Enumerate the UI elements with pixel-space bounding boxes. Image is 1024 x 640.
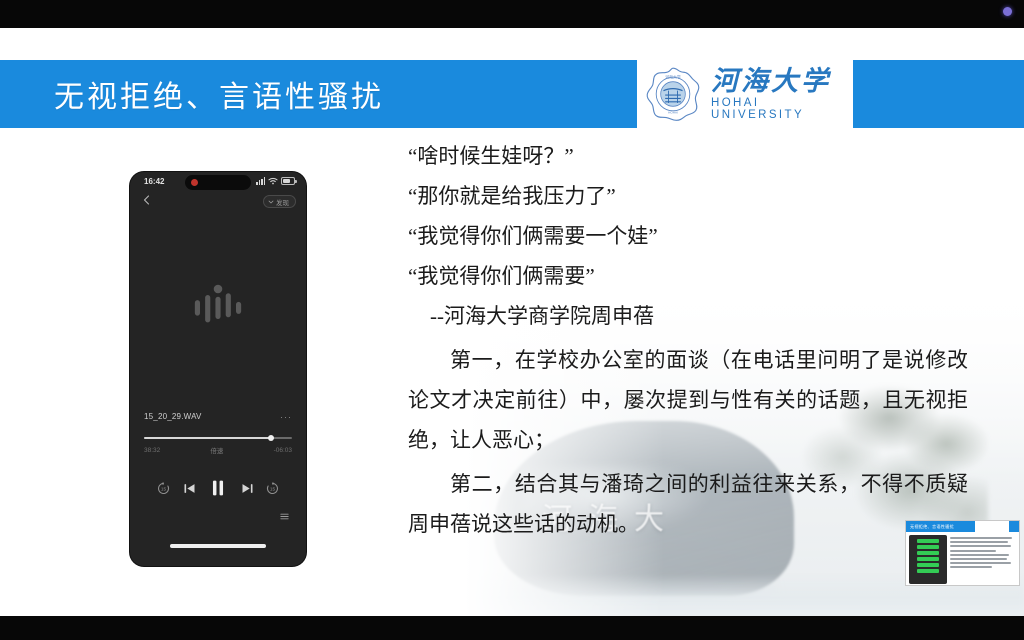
- forward-15-button[interactable]: 15: [265, 481, 280, 496]
- body-paragraph: 第一，在学校办公室的面谈（在电话里问明了是说修改论文才决定前往）中，屡次提到与性…: [408, 340, 968, 460]
- pip-bar: [917, 563, 939, 567]
- previous-track-button[interactable]: [182, 481, 197, 496]
- letterbox-top: [0, 0, 1024, 28]
- file-row: 15_20_29.WAV ···: [144, 412, 292, 421]
- pip-bar: [917, 545, 939, 549]
- chevron-down-icon: [268, 199, 274, 205]
- pip-bar: [917, 557, 939, 561]
- screen-recording-frame: 河海大 无视拒绝、言语性骚扰 河海大学 HOHAI: [0, 0, 1024, 640]
- home-indicator: [170, 544, 266, 548]
- phone-nav-bar: 发现: [130, 192, 306, 212]
- audio-waveform-icon: [192, 283, 244, 331]
- logo-wordmark: 河海大学 HOHAI UNIVERSITY: [711, 67, 853, 121]
- progress-track: [144, 437, 292, 439]
- quote-line: “我觉得你们俩需要一个娃”: [408, 216, 968, 256]
- pip-bar: [917, 551, 939, 555]
- svg-text:HOHAI: HOHAI: [668, 111, 678, 115]
- playlist-icon[interactable]: [279, 511, 290, 522]
- hohai-seal-icon: 河海大学 HOHAI: [645, 66, 701, 122]
- pip-line: [950, 562, 1011, 564]
- pip-phone-thumbnail: [909, 535, 947, 584]
- time-row: 38:32 倍速 -06:03: [144, 445, 292, 455]
- logo-chinese-name: 河海大学: [711, 67, 853, 95]
- pause-button[interactable]: [207, 477, 229, 499]
- discover-button[interactable]: 发现: [263, 195, 296, 208]
- dynamic-island: [185, 175, 251, 190]
- pip-line: [950, 566, 992, 568]
- rewind-15-button[interactable]: 15: [156, 481, 171, 496]
- signal-bars-icon: [256, 177, 265, 185]
- pip-logo: [975, 521, 1009, 532]
- audio-file-name: 15_20_29.WAV: [144, 412, 202, 421]
- pip-line: [950, 558, 1007, 560]
- phone-screenshot-image: 16:42: [130, 172, 306, 566]
- svg-text:河海大学: 河海大学: [665, 74, 681, 79]
- remaining-time: -06:03: [274, 447, 292, 454]
- status-bar-icons: [256, 177, 295, 185]
- elapsed-time: 38:32: [144, 447, 160, 454]
- picture-in-picture-preview[interactable]: 无视拒绝、言语性骚扰: [905, 520, 1020, 586]
- quote-attribution: --河海大学商学院周申蓓: [408, 296, 968, 336]
- recording-dot-icon: [191, 179, 198, 186]
- letterbox-bottom: [0, 616, 1024, 640]
- pip-line: [950, 550, 996, 552]
- pip-bar: [917, 569, 939, 573]
- wifi-icon: [268, 177, 278, 185]
- playback-speed-button[interactable]: 倍速: [210, 445, 223, 455]
- battery-icon: [281, 177, 295, 185]
- page-title: 无视拒绝、言语性骚扰: [54, 72, 384, 116]
- body-paragraph: 第二，结合其与潘琦之间的利益往来关系，不得不质疑周申蓓说这些话的动机。: [408, 464, 968, 544]
- pip-body: [906, 532, 1019, 586]
- pip-title: 无视拒绝、言语性骚扰: [910, 524, 954, 530]
- album-artwork-area: [130, 212, 306, 402]
- back-chevron-icon[interactable]: [141, 194, 153, 206]
- status-bar-clock: 16:42: [144, 177, 164, 186]
- next-track-button[interactable]: [240, 481, 255, 496]
- phone-status-bar: 16:42: [130, 172, 306, 192]
- progress-knob[interactable]: [268, 435, 274, 441]
- playback-metadata: 15_20_29.WAV ··· 38:32 倍速 -06:03: [130, 412, 306, 499]
- phone-footer: [130, 499, 306, 555]
- pip-bar: [917, 539, 939, 543]
- pip-header-band: 无视拒绝、言语性骚扰: [906, 521, 1019, 532]
- pip-line: [950, 554, 1009, 556]
- quote-line: “啥时候生娃呀？”: [408, 136, 968, 176]
- svg-text:15: 15: [270, 486, 276, 491]
- screen-recording-indicator-dot: [1003, 7, 1012, 16]
- quote-line: “那你就是给我压力了”: [408, 176, 968, 216]
- playback-controls: 15: [144, 477, 292, 499]
- more-options-icon[interactable]: ···: [280, 414, 292, 420]
- discover-label: 发现: [276, 197, 289, 207]
- quote-line: “我觉得你们俩需要”: [408, 256, 968, 296]
- university-logo: 河海大学 HOHAI 河海大学 HOHAI UNIVERSITY: [637, 60, 853, 128]
- pip-line: [950, 545, 1011, 547]
- pip-line: [950, 537, 1012, 539]
- pip-text-lines: [950, 535, 1016, 584]
- progress-fill: [144, 437, 271, 439]
- playback-progress-slider[interactable]: 38:32 倍速 -06:03: [144, 437, 292, 455]
- svg-text:15: 15: [161, 486, 167, 491]
- logo-english-name: HOHAI UNIVERSITY: [711, 97, 853, 121]
- slide-header-band: 无视拒绝、言语性骚扰 河海大学 HOHAI 河海大学 HOHAI UNIVERS…: [0, 60, 1024, 128]
- slide-body-text: “啥时候生娃呀？” “那你就是给我压力了” “我觉得你们俩需要一个娃” “我觉得…: [408, 136, 968, 544]
- pip-line: [950, 541, 1008, 543]
- presentation-slide: 河海大 无视拒绝、言语性骚扰 河海大学 HOHAI: [0, 28, 1024, 616]
